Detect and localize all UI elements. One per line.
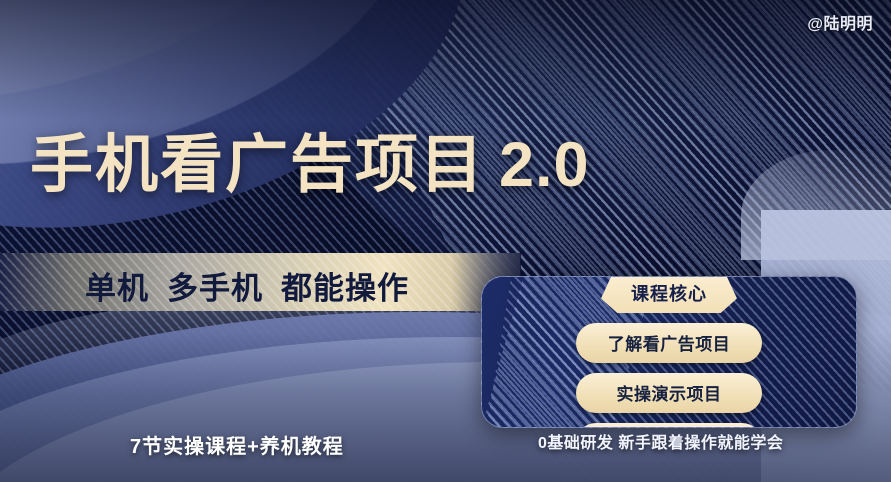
subtitle: 单机多手机都能操作: [85, 263, 409, 308]
subtitle-part-3: 都能操作: [281, 271, 409, 306]
caption-beginner-friendly: 0基础研发 新手跟着操作就能学会: [538, 429, 783, 453]
course-pill-1[interactable]: 了解看广告项目: [576, 323, 762, 363]
subtitle-part-2: 多手机: [167, 271, 263, 306]
course-core-panel: 课程核心 了解看广告项目 实操演示项目 安装软件+实操 提升收益方法: [481, 276, 857, 428]
page-title-main: 手机看广告项目: [30, 130, 485, 200]
author-watermark: @陆明明: [807, 10, 873, 34]
course-pill-2[interactable]: 实操演示项目: [576, 373, 762, 413]
course-pill-3[interactable]: 安装软件+实操: [576, 423, 762, 428]
course-core-pill-grid: 了解看广告项目 实操演示项目 安装软件+实操 提升收益方法: [482, 323, 856, 428]
caption-course-count: 7节实操课程+养机教程: [130, 430, 344, 459]
page-title-version: 2.0: [499, 130, 590, 200]
course-core-header: 课程核心: [601, 276, 737, 313]
vignette-top: [0, 0, 891, 120]
promo-poster: @陆明明 手机看广告项目2.0 单机多手机都能操作 课程核心 了解看广告项目 实…: [0, 0, 891, 482]
page-title: 手机看广告项目2.0: [30, 134, 590, 197]
subtitle-part-1: 单机: [85, 271, 149, 306]
